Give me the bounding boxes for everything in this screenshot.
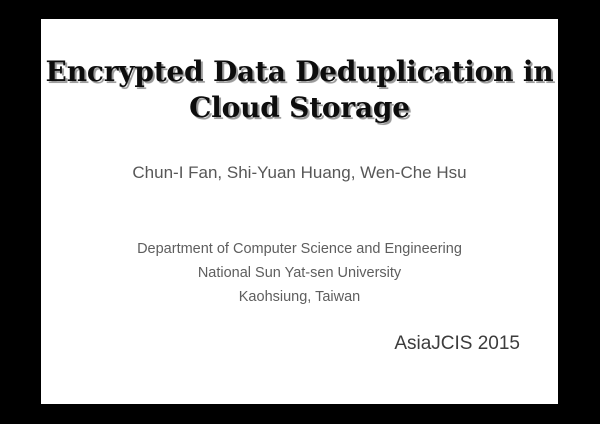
slide-conference: AsiaJCIS 2015 — [394, 331, 520, 357]
title-line-2: Cloud Storage — [41, 90, 558, 126]
authors-line: Chun-I Fan, Shi-Yuan Huang, Wen-Che Hsu — [41, 161, 558, 185]
presentation-slide-screenshot: Encrypted Data Deduplication in Cloud St… — [0, 0, 600, 424]
affiliation-line-university: National Sun Yat-sen University — [41, 261, 558, 285]
slide-affiliation: Department of Computer Science and Engin… — [41, 237, 558, 309]
slide-canvas: Encrypted Data Deduplication in Cloud St… — [41, 19, 558, 404]
affiliation-line-location: Kaohsiung, Taiwan — [41, 285, 558, 309]
slide-authors: Chun-I Fan, Shi-Yuan Huang, Wen-Che Hsu — [41, 161, 558, 185]
affiliation-line-department: Department of Computer Science and Engin… — [41, 237, 558, 261]
conference-label: AsiaJCIS 2015 — [394, 331, 520, 357]
title-line-1: Encrypted Data Deduplication in — [41, 54, 558, 90]
slide-title: Encrypted Data Deduplication in Cloud St… — [41, 54, 558, 126]
